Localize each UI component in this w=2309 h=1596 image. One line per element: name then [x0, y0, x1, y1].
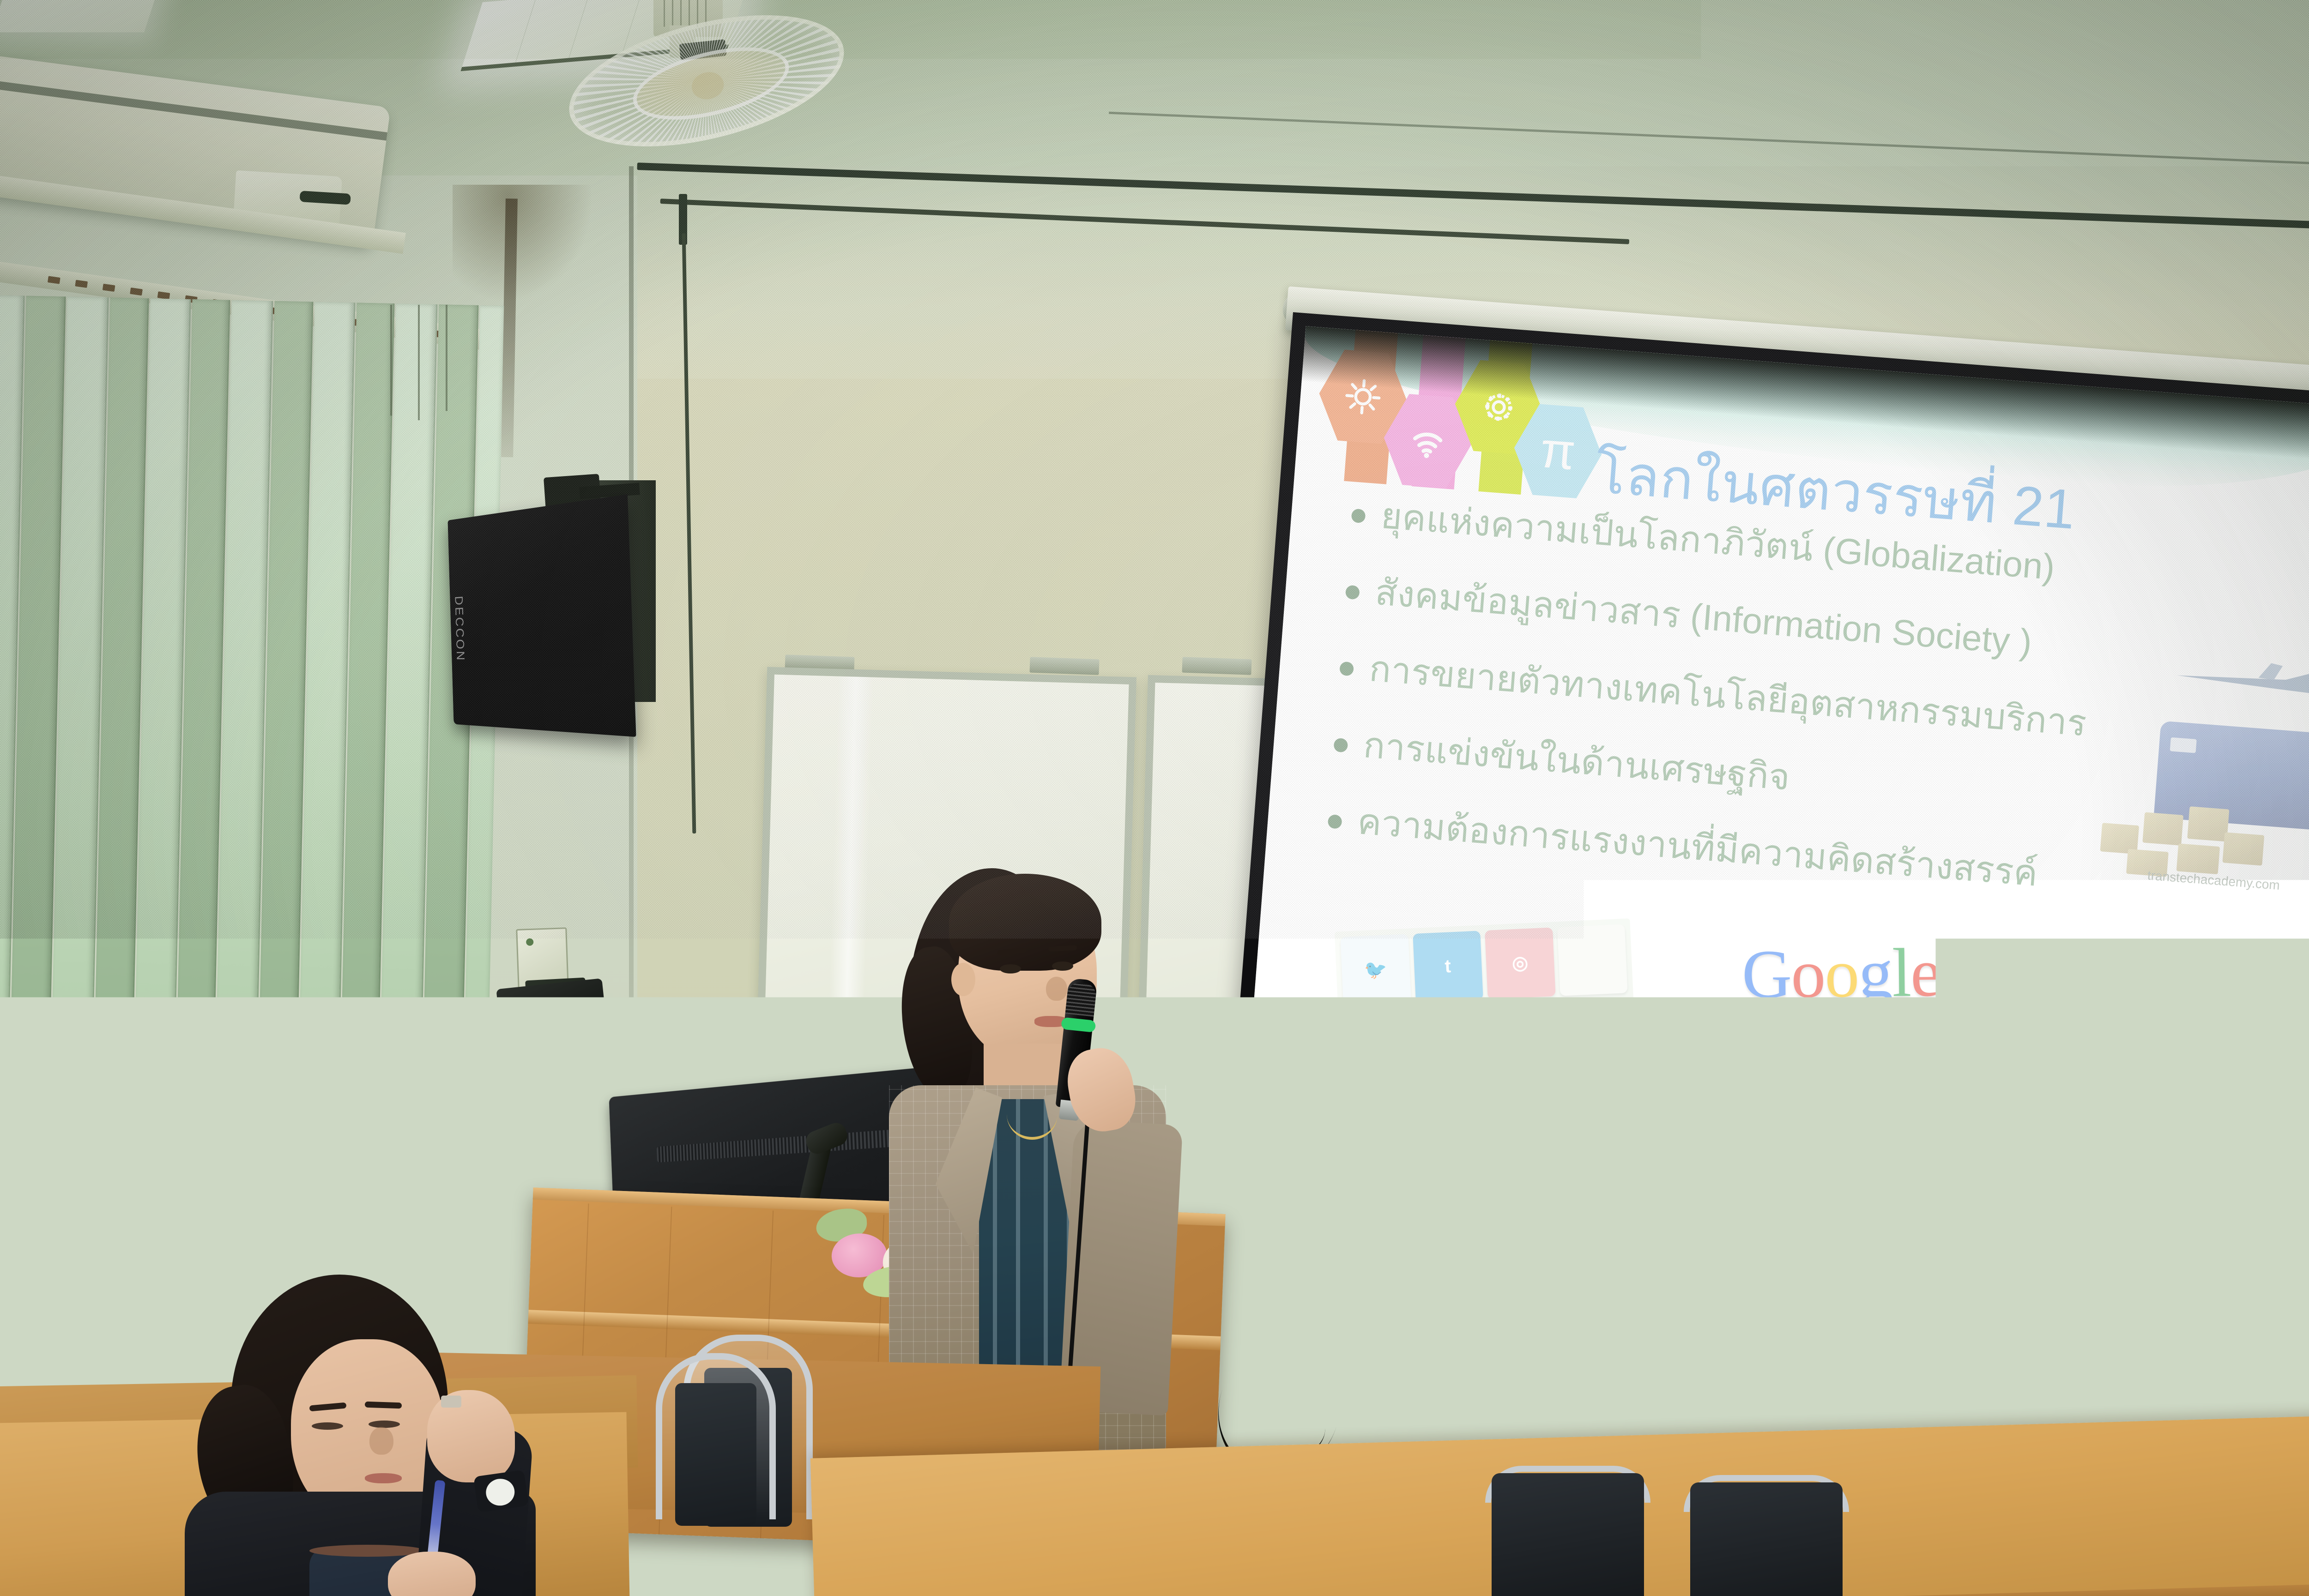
presenter-ear — [951, 963, 975, 996]
ceiling-water-stain — [453, 185, 591, 300]
attendee-eye-left — [312, 1422, 343, 1430]
chrome-frame-chair-3[interactable] — [656, 1353, 776, 1519]
whiteboard-hinge-3 — [1182, 657, 1251, 675]
bullet-dot — [1339, 661, 1354, 676]
person-with-laptop-image: http://agileimpact.org — [2068, 966, 2309, 1225]
attendee-nose — [369, 1427, 393, 1455]
social-image-caption: getsocialeyes.com — [1338, 1156, 1616, 1182]
lecture-room-photo: DECCON — [0, 0, 2309, 1596]
window-mullion — [55, 1108, 63, 1302]
blind-pull-string-3[interactable] — [446, 305, 447, 411]
pinterest-icon: P — [1419, 1077, 1490, 1149]
attendee-ring — [441, 1396, 461, 1408]
youtube-icon: ▶ — [1488, 1001, 1559, 1072]
cargo-plane-truck-image: transtechacademy.com — [2070, 646, 2309, 907]
wall-speaker: DECCON — [447, 494, 636, 737]
laptop-image-caption: http://agileimpact.org — [2087, 1188, 2309, 1222]
fluorescent-light-panel-left — [0, 0, 161, 32]
screen-surface: π โลกในศตวรรษที่ 21 ยุคแห่งความเป็นโลกาภ… — [1239, 326, 2309, 1285]
google-image-caption: http://phys.org/ — [1692, 1154, 2010, 1175]
attendee-fist — [427, 1390, 515, 1482]
bullet-dot — [1345, 585, 1360, 600]
presenter-fringe — [949, 874, 1101, 971]
foreground-chair-2[interactable] — [1690, 1482, 1843, 1596]
presenter-nose — [1046, 977, 1067, 1001]
attendee-writing-hand — [388, 1552, 476, 1596]
speaker-brand-label: DECCON — [452, 596, 466, 662]
bullet-dot — [1351, 508, 1366, 523]
ceiling-fan — [531, 0, 854, 139]
blind-pull-string[interactable] — [390, 305, 392, 416]
twitter-t-icon: t — [1413, 931, 1483, 1002]
google-photo-body — [1690, 1017, 2010, 1150]
social-media-keyboard-image: 🐦 t ◎ 👍 f ▶ ◎ P B f — [1335, 919, 1640, 1158]
presentation-slide: π โลกในศตวรรษที่ 21 ยุคแห่งความเป็นโลกาภ… — [1239, 326, 2309, 1285]
thumbs-up-icon: 👍 — [1344, 1007, 1414, 1079]
attendee-mouth — [365, 1473, 402, 1483]
foreground-chair-1[interactable] — [1492, 1473, 1644, 1596]
whiteboard-hinge-2 — [1029, 657, 1099, 675]
presenter-eye-right — [1052, 961, 1073, 971]
attendee-wristwatch — [473, 1470, 529, 1513]
attendee-brow-right — [365, 1402, 402, 1409]
screen-pull-handle[interactable] — [1834, 1249, 1877, 1294]
seated-attendee — [171, 1275, 660, 1596]
presenter — [859, 864, 1191, 1441]
blogger-icon: B — [1491, 1074, 1562, 1145]
facebook-icon: f — [1416, 1004, 1487, 1076]
vertical-window-blinds[interactable] — [0, 295, 504, 1252]
google-search-image: Google http://phys.org/ — [1665, 932, 2019, 1194]
instagram-icon: ◎ — [1485, 927, 1555, 999]
attendee-eye-right — [369, 1421, 400, 1428]
window-daylight — [0, 1122, 249, 1275]
projection-screen[interactable]: π โลกในศตวรรษที่ 21 ยุคแห่งความเป็นโลกาภ… — [1217, 312, 2309, 1382]
presenter-eye-left — [1000, 964, 1021, 973]
blind-pull-string-2[interactable] — [418, 305, 420, 420]
google-logo: Google — [1665, 932, 2017, 1015]
instagram-icon-2: ◎ — [1560, 997, 1631, 1069]
facebook-f-icon: f — [1564, 1070, 1634, 1142]
bullet-dot — [1333, 738, 1348, 753]
bullet-dot — [1328, 814, 1342, 829]
twitter-bird-icon: 🐦 — [1340, 934, 1411, 1005]
